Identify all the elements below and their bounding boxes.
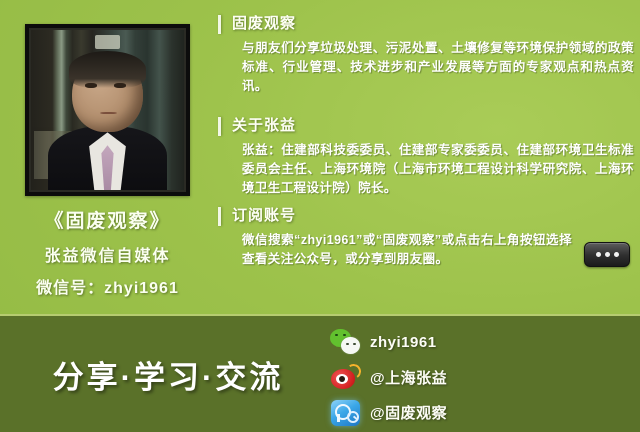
section-heading: 固废观察 [218, 14, 634, 34]
section-body-text: 张益：住建部科技委委员、住建部专家委委员、住建部环境卫生标准委员会主任、上海环境… [242, 141, 634, 198]
more-options-button[interactable] [584, 242, 630, 267]
social-label: zhyi1961 [370, 334, 437, 351]
accent-bar-icon [218, 117, 221, 136]
weibo-icon [330, 363, 362, 393]
section-body-text: 微信搜索“zhyi1961”或“固废观察”或点击右上角按钮选择查看关注公众号，或… [242, 231, 572, 269]
social-label: @固废观察 [370, 402, 447, 423]
portrait-eye-right [114, 83, 126, 88]
section-heading: 订阅账号 [218, 206, 634, 226]
portrait-photo [29, 28, 186, 192]
dot-icon [596, 252, 601, 257]
portrait-eye-left [85, 83, 97, 88]
dot-icon [605, 252, 610, 257]
wechat-icon [330, 328, 362, 358]
section-body-text: 与朋友们分享垃圾处理、污泥处置、土壤修复等环境保护领域的政策标准、行业管理、技术… [242, 39, 634, 96]
section-heading-label: 关于张益 [232, 117, 296, 134]
social-label: @上海张益 [370, 367, 447, 388]
photo-background-light [95, 35, 119, 49]
banner-slogan: 分享·学习·交流 [18, 352, 318, 397]
accent-bar-icon [218, 207, 221, 226]
list-item[interactable]: @固废观察 [330, 396, 500, 429]
portrait-hair [69, 51, 146, 88]
section-heading-label: 固废观察 [232, 15, 296, 32]
section-about-account: 固废观察 与朋友们分享垃圾处理、污泥处置、土壤修复等环境保护领域的政策标准、行业… [218, 14, 634, 96]
list-item[interactable]: zhyi1961 [330, 326, 500, 359]
portrait-photo-frame [25, 24, 190, 196]
section-subscribe: 订阅账号 微信搜索“zhyi1961”或“固废观察”或点击右上角按钮选择查看关注… [218, 206, 634, 269]
section-heading: 关于张益 [218, 116, 634, 136]
bottom-banner: 分享·学习·交流 zhyi1961 @上海张益 @固 [0, 314, 640, 432]
list-item[interactable]: @上海张益 [330, 361, 500, 394]
social-list: zhyi1961 @上海张益 @固废观察 [330, 326, 500, 431]
brand-title: 《固废观察》 [0, 206, 215, 233]
search-icon [330, 398, 362, 428]
accent-bar-icon [218, 15, 221, 34]
section-about-person: 关于张益 张益：住建部科技委委员、住建部专家委委员、住建部环境卫生标准委员会主任… [218, 116, 634, 198]
dot-icon [614, 252, 619, 257]
section-heading-label: 订阅账号 [232, 207, 296, 224]
brand-subtitle: 张益微信自媒体 [0, 242, 215, 266]
wechat-id-text: 微信号：zhyi1961 [0, 274, 215, 298]
promo-card: 《固废观察》 张益微信自媒体 微信号：zhyi1961 固废观察 与朋友们分享垃… [0, 0, 640, 432]
